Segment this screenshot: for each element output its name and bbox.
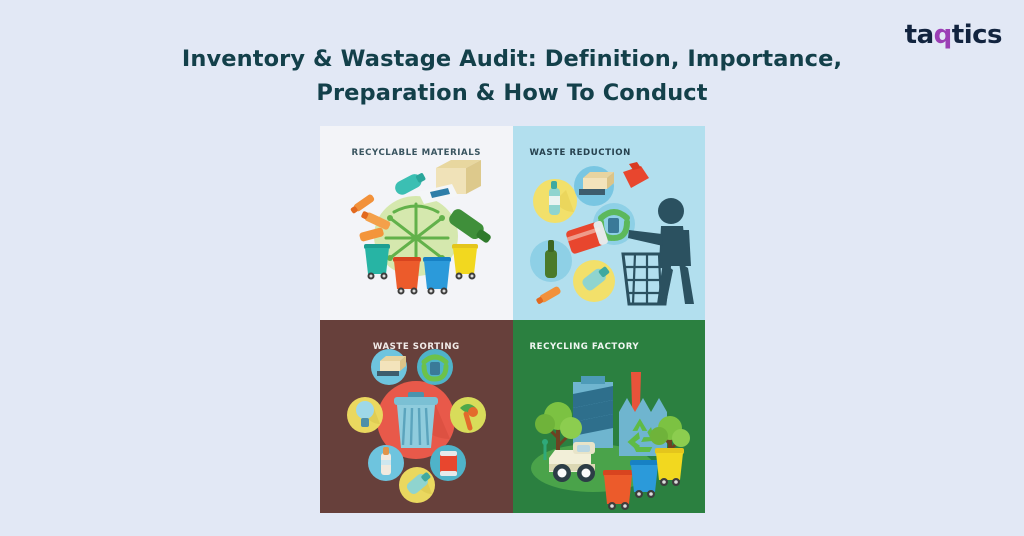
sorting-icon-paper	[371, 349, 407, 385]
quadrant-waste-sorting: WASTE SORTING	[320, 320, 513, 514]
cardboard-stack-icon	[574, 166, 614, 206]
recycling-factory-scene	[513, 320, 706, 514]
battery	[535, 286, 562, 306]
recycling-factory-artwork	[513, 320, 706, 513]
person-throwing-trash	[628, 198, 694, 304]
bin-blue	[423, 257, 451, 295]
waste-reduction-scene	[513, 126, 706, 320]
recyclable-materials-artwork	[320, 126, 512, 320]
factory-bin-red	[603, 470, 633, 510]
infographic-image: RECYCLABLE MATERIALS	[320, 126, 705, 513]
bin-yellow	[452, 244, 478, 280]
red-bag	[623, 162, 649, 188]
page-root: { "page": { "background_color": "#e2e8f5…	[0, 0, 1024, 536]
tin-can	[565, 220, 609, 255]
page-title-line-1: Inventory & Wastage Audit: Definition, I…	[0, 42, 1024, 76]
quadrant-waste-reduction: WASTE REDUCTION	[513, 126, 706, 320]
page-title-line-2: Preparation & How To Conduct	[0, 76, 1024, 110]
plastic-bottle-icon	[573, 260, 615, 302]
spray-bottle-icon	[533, 179, 577, 223]
sorting-icon-recycle	[417, 349, 453, 385]
quadrant-recycling-factory: RECYCLING FACTORY	[513, 320, 706, 514]
sorting-icon-spray	[399, 467, 435, 503]
bin-teal	[364, 244, 390, 280]
waste-sorting-scene	[320, 320, 513, 514]
glass-bottle-icon	[530, 240, 572, 282]
factory-bin-yellow	[655, 448, 684, 486]
waste-sorting-artwork	[320, 320, 512, 513]
factory-bin-blue	[630, 460, 659, 498]
recyclable-materials-scene	[320, 126, 513, 320]
bin-red	[393, 257, 421, 295]
quadrant-recyclable-materials: RECYCLABLE MATERIALS	[320, 126, 513, 320]
sorting-icon-bulb	[347, 397, 383, 433]
sorting-icon-bottle	[368, 445, 404, 481]
sorting-icon-can	[430, 445, 466, 481]
page-title: Inventory & Wastage Audit: Definition, I…	[0, 42, 1024, 110]
factory-building	[573, 376, 613, 448]
sorting-icon-organic	[450, 397, 486, 433]
waste-reduction-artwork	[513, 126, 706, 320]
